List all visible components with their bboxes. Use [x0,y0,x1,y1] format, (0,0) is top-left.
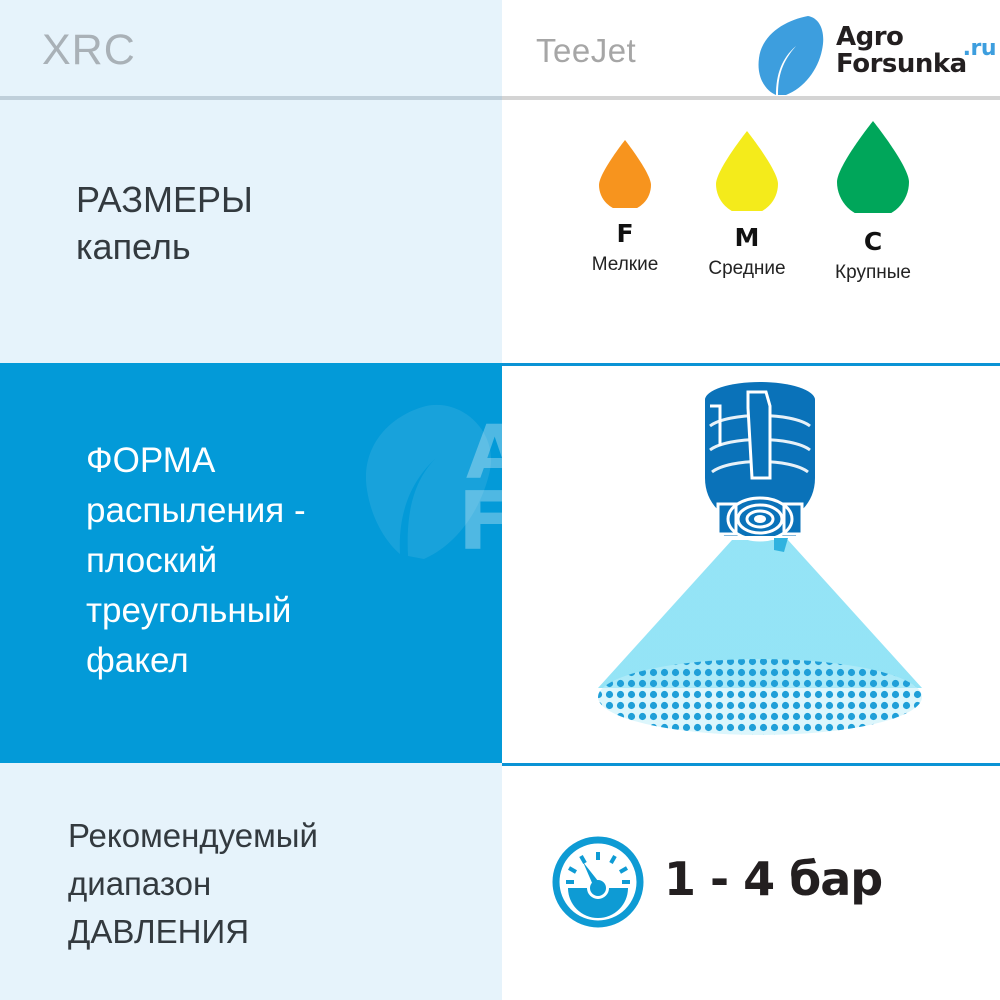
pressure-label-line3: ДАВЛЕНИЯ [68,908,318,956]
droplet-item-medium: M Средние [672,131,822,280]
droplet-icon-medium [716,131,778,211]
droplet-name-coarse: Крупные [806,262,940,284]
spray-shape-label-line5: факел [86,636,306,686]
pressure-label-line1: Рекомендуемый [68,812,318,860]
spray-shape-label: ФОРМА распыления - плоский треугольный ф… [86,436,306,686]
pressure-label: Рекомендуемый диапазон ДАВЛЕНИЯ [68,812,318,956]
droplet-icon-coarse [837,121,909,213]
product-code-title: XRC [42,26,136,75]
droplet-letter-fine: F [560,219,690,248]
logo-tld: .ru [963,36,996,61]
droplet-letter-medium: M [672,223,822,252]
pressure-gauge-icon [552,836,644,928]
droplet-name-medium: Средние [672,258,822,280]
droplet-sizes-label-line1: РАЗМЕРЫ [76,176,253,223]
pressure-label-line2: диапазон [68,860,318,908]
droplet-item-fine: F Мелкие [560,140,690,276]
spray-shape-label-line3: плоский [86,536,306,586]
row-spray-shape-divider [502,363,1000,366]
pressure-value: 1 - 4 бар [664,852,882,906]
droplet-letter-coarse: C [806,227,940,256]
leaf-icon [756,14,830,96]
nozzle-body [705,382,815,552]
row-pressure-divider [502,763,1000,766]
droplet-name-fine: Мелкие [560,254,690,276]
spray-shape-label-line1: ФОРМА [86,436,306,486]
droplet-legend: F Мелкие M Средние C Крупные [560,140,940,320]
logo-wordmark: Agro Forsunka .ru [836,24,992,90]
brand-title: TeeJet [536,32,636,70]
nozzle-spec-infographic: XRC TeeJet Agro Forsunka .ru РАЗМЕРЫ кап… [0,0,1000,1000]
spray-shape-label-line4: треугольный [86,586,306,636]
droplet-item-coarse: C Крупные [806,121,940,284]
agroforsunka-logo: Agro Forsunka .ru [756,14,992,94]
droplet-sizes-label: РАЗМЕРЫ капель [76,176,253,270]
spray-shape-label-line2: распыления - [86,486,306,536]
droplet-icon-fine [599,140,651,208]
flat-fan-nozzle-illustration: 0% stop-color="#43c8ec"/> [560,370,960,750]
droplet-sizes-label-line2: капель [76,223,253,270]
